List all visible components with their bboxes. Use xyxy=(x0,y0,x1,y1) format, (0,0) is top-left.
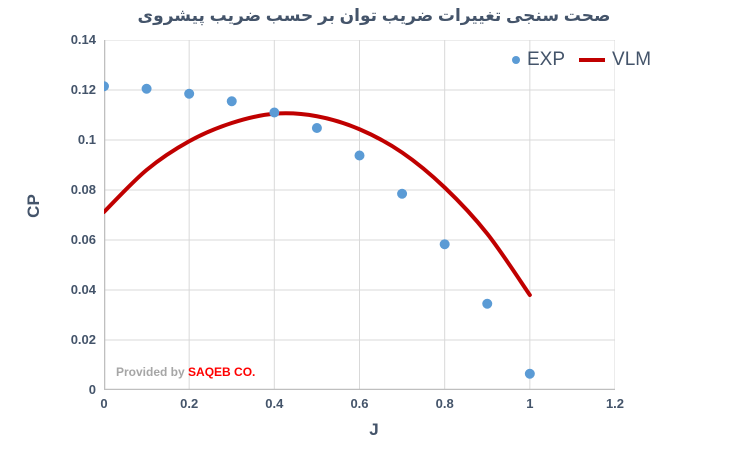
watermark: Provided by SAQEB CO. xyxy=(116,365,255,379)
legend-item-exp: EXP xyxy=(512,50,565,69)
data-point-exp xyxy=(312,123,322,133)
data-point-exp xyxy=(482,299,492,309)
watermark-brand: SAQEB CO. xyxy=(188,365,255,379)
y-tick-label: 0.14 xyxy=(34,33,96,46)
x-axis-title: J xyxy=(0,420,748,440)
data-point-exp xyxy=(355,151,365,161)
y-tick-label: 0.04 xyxy=(34,283,96,296)
x-tick-label: 1.2 xyxy=(580,396,650,411)
x-axis-tick-labels: 00.20.40.60.811.2 xyxy=(0,396,748,416)
chart-legend: EXP VLM xyxy=(512,50,651,69)
x-tick-label: 1 xyxy=(495,396,565,411)
data-point-exp xyxy=(269,108,279,118)
data-point-exp xyxy=(227,96,237,106)
data-point-exp xyxy=(440,239,450,249)
series-vlm-line xyxy=(104,113,530,295)
plot-area xyxy=(104,40,615,390)
x-tick-label: 0.8 xyxy=(410,396,480,411)
dot-marker-icon xyxy=(512,56,520,64)
y-tick-label: 0 xyxy=(34,383,96,396)
line-marker-icon xyxy=(579,58,605,62)
legend-label-exp: EXP xyxy=(527,50,565,69)
data-point-exp xyxy=(184,89,194,99)
y-tick-label: 0.02 xyxy=(34,333,96,346)
y-tick-label: 0.1 xyxy=(34,133,96,146)
chart-container: صحت سنجی تغییرات ضریب توان بر حسب ضریب پ… xyxy=(0,0,748,451)
chart-title: صحت سنجی تغییرات ضریب توان بر حسب ضریب پ… xyxy=(0,6,748,26)
legend-label-vlm: VLM xyxy=(612,50,651,69)
x-tick-label: 0 xyxy=(69,396,139,411)
data-point-exp xyxy=(397,189,407,199)
y-tick-label: 0.06 xyxy=(34,233,96,246)
data-point-exp xyxy=(142,84,152,94)
series-exp-points xyxy=(104,81,535,379)
watermark-prefix: Provided by xyxy=(116,365,188,379)
x-tick-label: 0.2 xyxy=(154,396,224,411)
plot-svg xyxy=(104,40,615,390)
y-axis-tick-labels: 00.020.040.060.080.10.120.14 xyxy=(30,0,96,451)
series-line-vlm xyxy=(104,113,530,295)
y-tick-label: 0.08 xyxy=(34,183,96,196)
data-point-exp xyxy=(525,369,535,379)
gridlines xyxy=(104,40,615,390)
x-tick-label: 0.6 xyxy=(325,396,395,411)
x-tick-label: 0.4 xyxy=(239,396,309,411)
legend-item-vlm: VLM xyxy=(579,50,651,69)
y-tick-label: 0.12 xyxy=(34,83,96,96)
